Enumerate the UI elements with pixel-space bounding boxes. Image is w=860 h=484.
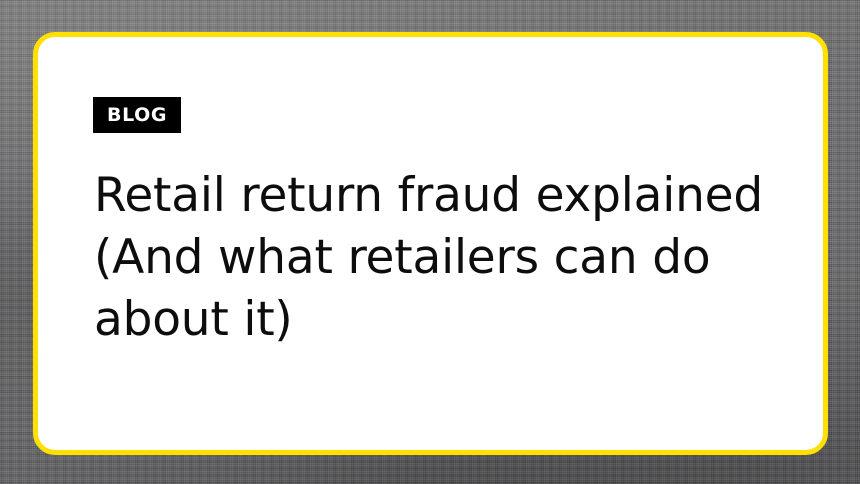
blog-category-badge: BLOG	[93, 97, 181, 133]
page-title-line-3: about it)	[94, 289, 794, 351]
page-title-line-2: (And what retailers can do	[94, 227, 794, 289]
blog-card: BLOG Retail return fraud explained (And …	[33, 32, 828, 455]
blog-card-graphic: BLOG Retail return fraud explained (And …	[0, 0, 860, 484]
blog-card-content: BLOG Retail return fraud explained (And …	[38, 37, 823, 450]
page-title: Retail return fraud explained (And what …	[94, 165, 794, 351]
blog-category-badge-label: BLOG	[107, 106, 167, 125]
page-title-line-1: Retail return fraud explained	[94, 165, 794, 227]
